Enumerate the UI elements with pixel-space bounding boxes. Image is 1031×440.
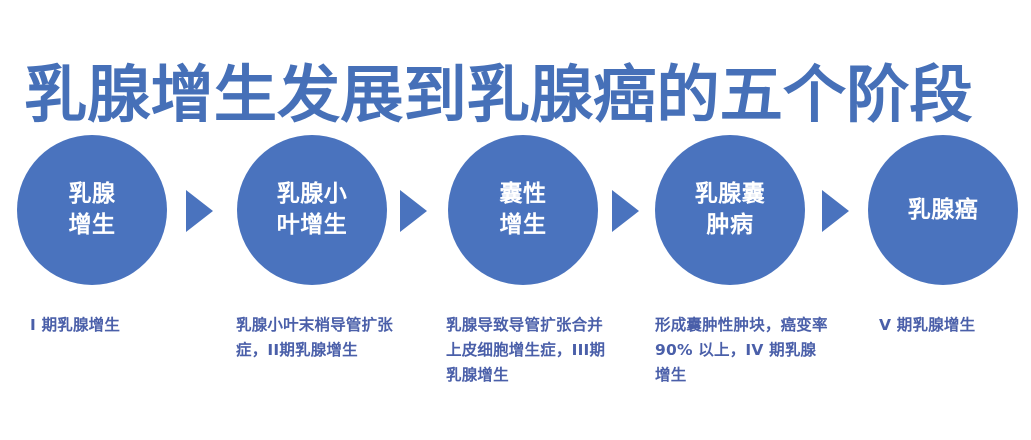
stage-circle-label-1: 乳腺 增生 (69, 179, 116, 241)
stage-caption-2: 乳腺小叶末梢导管扩张症，II期乳腺增生 (236, 313, 411, 363)
stage-caption-5: V 期乳腺增生 (879, 313, 1029, 338)
stage-circle-4[interactable]: 乳腺囊 肿病 (655, 135, 805, 285)
flow-arrow-icon-4 (822, 190, 849, 232)
stage-flow-diagram: 乳腺 增生 乳腺小 叶增生 囊性 增生 乳腺囊 肿病 乳腺癌 (0, 135, 1031, 290)
flow-arrow-icon-1 (186, 190, 213, 232)
stage-captions: I 期乳腺增生 乳腺小叶末梢导管扩张症，II期乳腺增生 乳腺导致导管扩张合并上皮… (0, 313, 1031, 438)
stage-circle-1[interactable]: 乳腺 增生 (17, 135, 167, 285)
page-title: 乳腺增生发展到乳腺癌的五个阶段 (24, 54, 1031, 136)
flow-arrow-icon-2 (400, 190, 427, 232)
stage-caption-1: I 期乳腺增生 (30, 313, 220, 338)
flow-arrow-icon-3 (612, 190, 639, 232)
stage-circle-3[interactable]: 囊性 增生 (448, 135, 598, 285)
infographic-canvas: 乳腺增生发展到乳腺癌的五个阶段 乳腺 增生 乳腺小 叶增生 囊性 增生 乳腺囊 … (0, 0, 1031, 440)
stage-circle-5[interactable]: 乳腺癌 (868, 135, 1018, 285)
stage-circle-2[interactable]: 乳腺小 叶增生 (237, 135, 387, 285)
stage-circle-label-5: 乳腺癌 (908, 195, 979, 226)
stage-circle-label-4: 乳腺囊 肿病 (695, 179, 766, 241)
stage-circle-label-3: 囊性 增生 (500, 179, 547, 241)
stage-circle-label-2: 乳腺小 叶增生 (277, 179, 348, 241)
stage-caption-4: 形成囊肿性肿块，癌变率 90% 以上，IV 期乳腺增生 (655, 313, 830, 388)
stage-caption-3: 乳腺导致导管扩张合并上皮细胞增生症，III期乳腺增生 (446, 313, 618, 388)
